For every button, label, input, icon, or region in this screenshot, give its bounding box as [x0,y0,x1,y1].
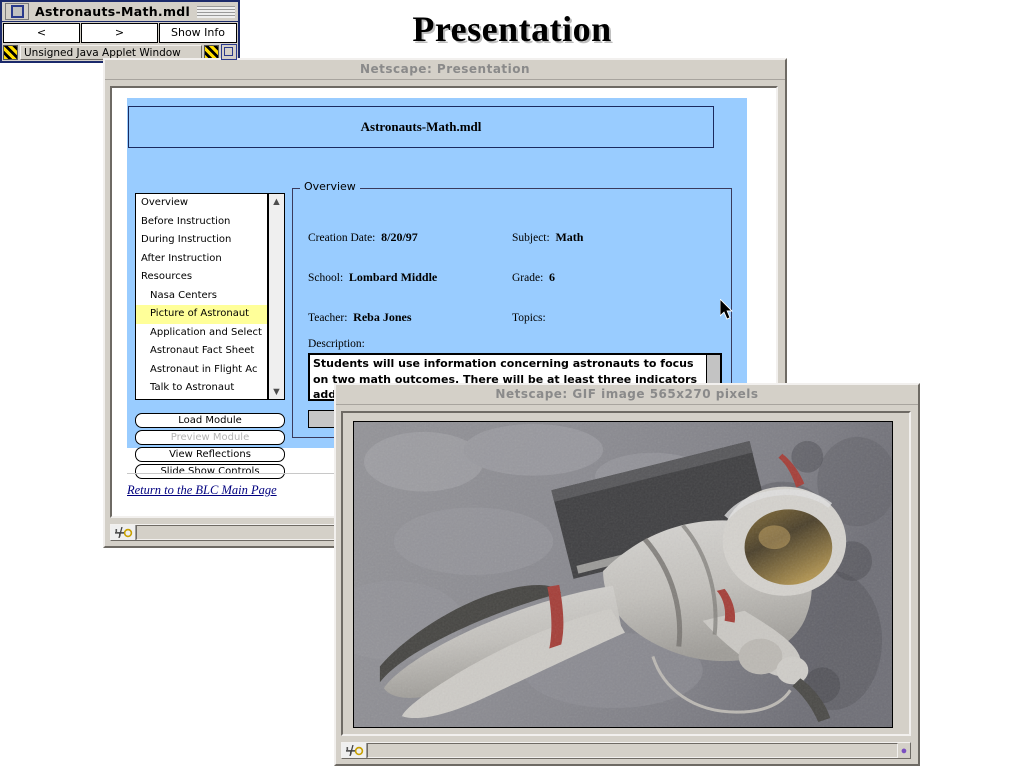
field-school: School: Lombard Middle [308,270,437,285]
field-creation-date: Creation Date: 8/20/97 [308,230,418,245]
nav-list-item[interactable]: Talk to Astronaut [136,379,267,398]
gif-content-area [341,411,911,736]
page-title: Presentation [0,8,1024,50]
module-button[interactable]: Load Module [135,413,285,428]
broken-key-security-icon[interactable] [111,525,136,540]
nav-list-scrollbar[interactable]: ▲ ▼ [268,193,285,400]
nav-list-item[interactable]: Resources [136,268,267,287]
broken-key-security-icon-gif[interactable] [342,743,367,758]
field-subject: Subject: Math [512,230,583,245]
nav-list-item[interactable]: Overview [136,194,267,213]
document-title-text: Astronauts-Math.mdl [361,119,482,135]
resize-corner-icon[interactable] [221,44,237,60]
purple-indicator-icon: ● [898,743,910,758]
scroll-down-arrow-icon[interactable]: ▼ [269,384,284,399]
window-title-netscape-presentation: Netscape: Presentation [105,60,785,80]
field-topics: Topics: [512,310,551,325]
window-title-gif-image: Netscape: GIF image 565x270 pixels [336,385,918,405]
scroll-up-arrow-icon[interactable]: ▲ [269,194,284,209]
description-line: Students will use information concerning… [313,356,717,372]
nav-list-item[interactable]: Picture of Astronaut [136,305,267,324]
astronaut-eva-photo [353,421,893,728]
nav-list-item[interactable]: Before Instruction [136,213,267,232]
document-title-box: Astronauts-Math.mdl [128,106,714,148]
module-button-stack: Load ModulePreview ModuleView Reflection… [135,413,285,481]
module-nav-list[interactable]: OverviewBefore InstructionDuring Instruc… [135,193,268,400]
description-label: Description: [308,338,365,350]
nav-list-item[interactable]: During Instruction [136,231,267,250]
module-button: Preview Module [135,430,285,445]
nav-list-item[interactable]: Nasa Centers [136,287,267,306]
field-grade: Grade: 6 [512,270,555,285]
nav-list-item[interactable]: After Instruction [136,250,267,269]
module-button[interactable]: Slide Show Controls [135,464,285,479]
nav-list-item[interactable]: Application and Select [136,324,267,343]
gif-status-message-field [367,743,898,758]
gif-status-bar: ● [341,742,911,759]
nav-list-item[interactable]: Astronaut Fact Sheet [136,342,267,361]
overview-group-legend: Overview [300,180,360,193]
nav-list-item[interactable]: Astronaut in Flight Ac [136,361,267,380]
module-button[interactable]: View Reflections [135,447,285,462]
netscape-gif-image-window: Netscape: GIF image 565x270 pixels [334,383,920,766]
field-teacher: Teacher: Reba Jones [308,310,412,325]
return-to-blc-main-page-link[interactable]: Return to the BLC Main Page [127,483,277,498]
